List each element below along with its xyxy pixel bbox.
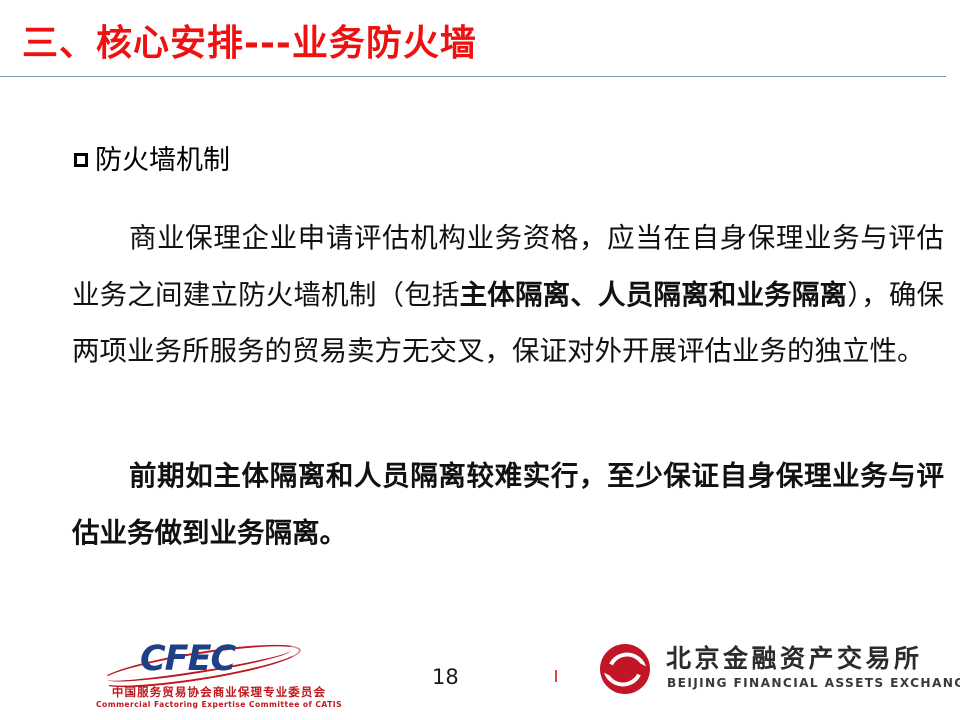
cfec-logo-mark: CFEC	[72, 638, 362, 684]
paragraph-2-segment-1: 前期如主体隔离和人员隔离较难实行，至少保证自身保理业务与评估业务做到业务隔离。	[72, 460, 944, 549]
page-title: 三、核心安排---业务防火墙	[22, 22, 477, 66]
red-tick-mark	[555, 670, 557, 682]
cfec-english-name: Commercial Factoring Expertise Committee…	[74, 700, 364, 710]
bfae-emblem-icon	[600, 644, 650, 694]
cfec-logo: CFEC 中国服务贸易协会商业保理专业委员会 Commercial Factor…	[72, 638, 362, 716]
presentation-slide: 三、核心安排---业务防火墙 防火墙机制 商业保理企业申请评估机构业务资格，应当…	[0, 0, 960, 720]
bfae-english-name: BEIJING FINANCIAL ASSETS EXCHANGE	[667, 676, 960, 691]
cfec-chinese-name: 中国服务贸易协会商业保理专业委员会	[74, 685, 364, 699]
header-divider	[0, 76, 946, 77]
page-number: 18	[432, 664, 459, 690]
cfec-acronym: CFEC	[140, 638, 235, 680]
slide-body: 防火墙机制 商业保理企业申请评估机构业务资格，应当在自身保理业务与评估业务之间建…	[0, 96, 960, 616]
paragraph-early-stage-note: 前期如主体隔离和人员隔离较难实行，至少保证自身保理业务与评估业务做到业务隔离。	[72, 448, 944, 561]
paragraph-1-segment-2-emphasis: 主体隔离、人员隔离和业务隔离	[460, 279, 848, 311]
square-outline-icon	[74, 153, 88, 167]
bfae-logo: 北京金融资产交易所 BEIJING FINANCIAL ASSETS EXCHA…	[600, 642, 912, 704]
bullet-heading-label: 防火墙机制	[95, 145, 230, 176]
slide-footer: CFEC 中国服务贸易协会商业保理专业委员会 Commercial Factor…	[0, 616, 960, 720]
bfae-chinese-name: 北京金融资产交易所	[666, 644, 923, 674]
bullet-heading: 防火墙机制	[74, 144, 230, 178]
slide-header: 三、核心安排---业务防火墙	[0, 0, 960, 78]
paragraph-firewall-mechanism: 商业保理企业申请评估机构业务资格，应当在自身保理业务与评估业务之间建立防火墙机制…	[72, 210, 944, 380]
